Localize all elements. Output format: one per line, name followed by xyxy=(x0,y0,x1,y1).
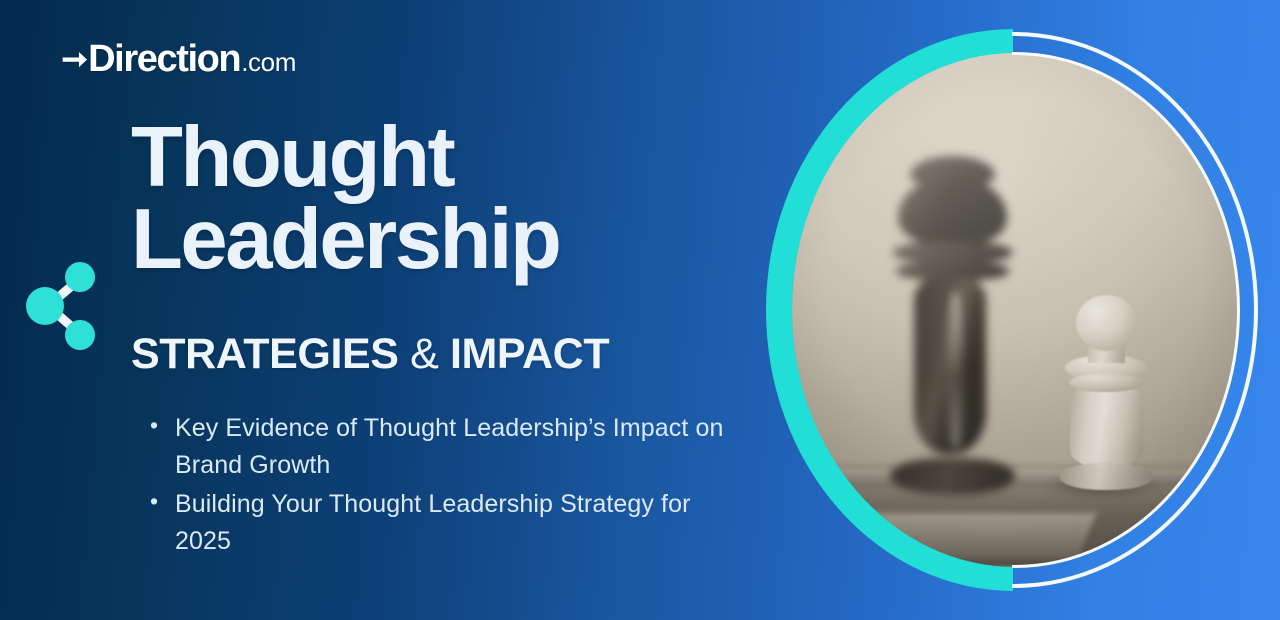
subheading-word-2: IMPACT xyxy=(450,330,609,378)
headline-line-1: Thought xyxy=(131,117,751,199)
brand-tld: .com xyxy=(241,49,296,75)
brand-name: Direction xyxy=(88,40,240,78)
list-item: Building Your Thought Leadership Strateg… xyxy=(145,486,745,559)
share-nodes-glyph xyxy=(18,258,102,354)
subheading-word-1: STRATEGIES xyxy=(131,330,399,378)
arrow-right-icon: ➞ xyxy=(61,45,87,75)
circle-image-composition xyxy=(740,0,1280,620)
subheading: STRATEGIES & IMPACT xyxy=(131,333,609,376)
brand-logo[interactable]: ➞ Direction .com xyxy=(62,40,296,78)
subheading-ampersand: & xyxy=(410,330,438,378)
thought-leadership-banner: ➞ Direction .com Thought Leadership STRA… xyxy=(0,0,1280,620)
topic-list: Key Evidence of Thought Leadership’s Imp… xyxy=(145,410,745,562)
share-nodes-icon xyxy=(18,258,102,354)
list-item: Key Evidence of Thought Leadership’s Imp… xyxy=(145,410,745,483)
page-title: Thought Leadership xyxy=(131,117,751,280)
headline-line-2: Leadership xyxy=(131,199,751,281)
